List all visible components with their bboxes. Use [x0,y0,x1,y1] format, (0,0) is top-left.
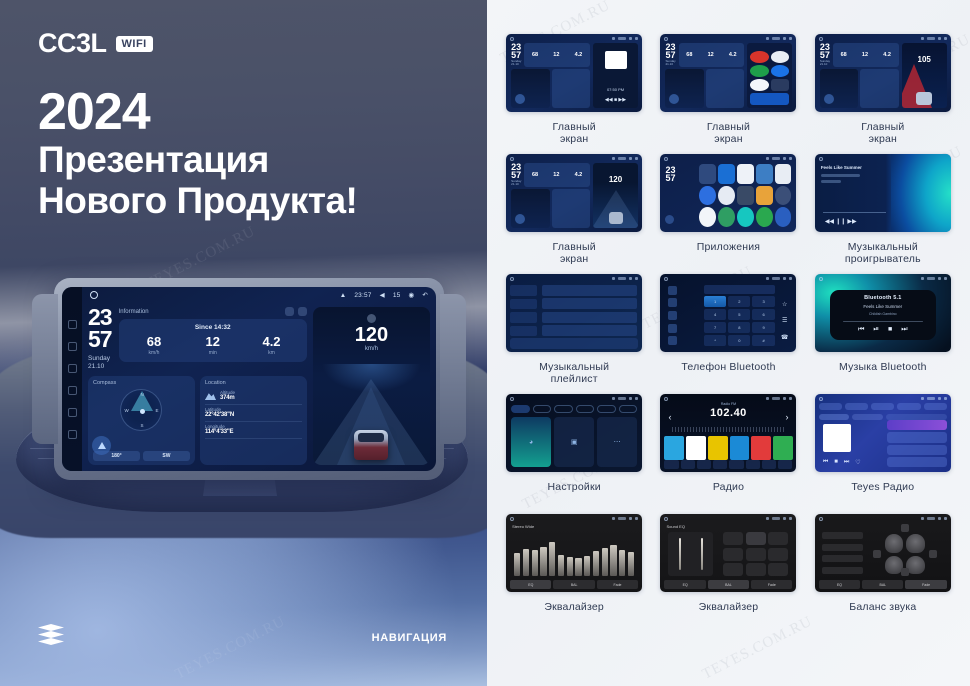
bluetooth-version: Bluetooth 5.1 [864,295,901,301]
volume-icon[interactable]: ◀ [380,291,385,299]
information-widget: Information Since 14:32 68 [119,307,307,371]
hd-icon [367,314,376,323]
information-title: Information [119,309,281,315]
navigation-button[interactable] [92,436,111,455]
thumbnail-speed: 120 [593,175,638,184]
head-unit: ▲ 23:57 ◀ 15 ◉ ↶ 23 57 Sunday [54,278,444,480]
settings-tab [533,405,552,413]
information-header: Information [119,307,307,316]
stat-unit: km [242,350,301,356]
compass-title: Compass [93,380,190,386]
home-icon[interactable] [90,291,98,299]
clock-date: 21.10 [88,363,112,371]
gallery-item[interactable]: 2357Sunday21.10 68124.2 105 Глав [810,34,956,154]
latitude-value: 22°42'38"N [205,412,302,418]
home-icon [510,37,514,41]
rail-icon-radio[interactable] [68,386,77,395]
storage-icon: ▣ [554,417,594,467]
mountain-icon [205,391,216,400]
home-icon [664,517,668,521]
head-unit-screen[interactable]: ▲ 23:57 ◀ 15 ◉ ↶ 23 57 Sunday [62,287,436,471]
longitude-value: 114°4'33"E [205,429,302,435]
stat-unit: min [183,350,242,356]
call-icon: ☎ [781,334,788,341]
radio-band: Radio FM [660,402,796,406]
gallery-item[interactable]: Stereo Wide EQ BAL Fade Эквалайзер [501,514,647,634]
phone-number-field[interactable] [704,285,775,294]
compass-south: S [140,423,143,428]
thumbnail-equalizer-presets[interactable]: Sound EQ EQ BAL Fade [660,514,796,592]
gallery-caption: Музыкальныйплейлист [539,361,609,385]
thumbnail-sound-balance[interactable]: EQ BAL Fade [815,514,951,592]
gallery-panel: TEYES.COM.RU TEYES.COM.RU TEYES.COM.RU T… [487,0,970,686]
play-pause-icon: ⏯ [873,326,879,334]
stat-item: 68 km/h [125,335,184,356]
home-icon [664,397,668,401]
settings-tab [576,405,595,413]
thumbnail-apps[interactable]: 2357 [660,154,796,232]
gallery-caption: Настройки [548,481,601,493]
gallery-caption: Телефон Bluetooth [681,361,775,373]
volume-level: 15 [393,292,401,299]
gallery-caption: Главныйэкран [553,241,596,265]
stat-value: 68 [125,335,184,348]
headline-line-1: Презентация [38,139,357,180]
radio-frequency: 102.40 [660,407,796,419]
gallery-caption: Радио [713,481,744,493]
clock-weekday: Sunday [88,355,112,363]
thumbnail-bluetooth-phone[interactable]: 123 456 789 *0# ☆☰☎ [660,274,796,352]
expand-icon[interactable] [298,307,307,316]
settings-tab [511,405,530,413]
home-icon [510,277,514,281]
rail-icon-apps[interactable] [68,342,77,351]
balance-up-icon[interactable] [901,524,909,532]
home-icon [664,277,668,281]
phone-actions[interactable]: ☆☰☎ [776,296,794,346]
stat-item: 4.2 km [242,335,301,356]
gallery-caption: Музыка Bluetooth [839,361,927,373]
equalizer-title: Sound EQ [666,524,684,529]
rail-icon-back[interactable] [68,430,77,439]
refresh-icon[interactable] [285,307,294,316]
gallery-item[interactable]: Sound EQ EQ BAL Fade Эквалайзер [655,514,801,634]
gallery-caption: Главныйэкран [861,121,904,145]
navigation-label: НАВИГАЦИЯ [372,632,447,644]
album-art [823,424,851,452]
gallery-item[interactable]: EQ BAL Fade Баланс звука [810,514,956,634]
stat-unit: km/h [125,350,184,356]
thumbnail-speed: 105 [902,55,947,64]
app-grid[interactable] [699,164,792,227]
brand-logo-text: CC3L [38,30,107,57]
gallery-item[interactable]: 2357 Приложения [655,154,801,274]
gallery-item[interactable]: Bluetooth 5.1 Feels Like Summer Childish… [810,274,956,394]
thumbnail-settings[interactable]: ◕▣⋯ [506,394,642,472]
bluetooth-artist: Childish Gambino [869,312,897,316]
gallery-item[interactable]: Музыкальныйплейлист [501,274,647,394]
more-icon: ⋯ [597,417,637,467]
compass-and-location: Compass N S W E 180° [88,376,307,465]
thumbnail-radio[interactable]: Radio FM 102.40 ‹ › [660,394,796,472]
rail-icon-music[interactable] [68,364,77,373]
equalizer-preset-label: Stereo Wide [512,524,534,529]
camera-icon[interactable]: ◉ [408,291,414,299]
gallery-item[interactable]: 2357Sunday21.10 68124.2 07:50 PM ◀◀ ■ ▶▶ [501,34,647,154]
side-rail[interactable] [62,287,82,471]
back-arrow-icon[interactable]: ↶ [422,291,428,299]
presentation-slide: TEYES.COM.RU TEYESCOM.RU TEYES.COM.RU CC… [0,0,970,686]
hero-panel: TEYES.COM.RU TEYESCOM.RU TEYES.COM.RU CC… [0,0,487,686]
prev-station-icon[interactable]: ‹ [668,412,671,422]
phone-sidebar[interactable] [663,284,681,347]
compass-direction: SW [143,451,190,461]
stat-value: 4.2 [242,335,301,348]
compass-dial: N S W E [120,389,162,431]
settings-tabs[interactable] [511,405,637,413]
information-since: Since 14:32 [125,324,301,331]
information-stats: 68 km/h 12 min 4.2 [125,335,301,356]
thumbnail-teyes-radio[interactable]: ⏮■ ⏭♡ [815,394,951,472]
home-icon [510,397,514,401]
equalizer-dock[interactable]: EQ BAL Fade [510,580,638,589]
watermark: TEYES.COM.RU [173,613,289,683]
thumbnail-home-apps[interactable]: 2357Sunday21.10 68124.2 [660,34,796,112]
radio-dock[interactable] [664,460,792,469]
playlist-sidebar[interactable] [510,285,537,336]
radio-presets[interactable] [664,436,792,460]
thumbnail-home-road[interactable]: 2357Sunday21.10 68124.2 105 [815,34,951,112]
gallery-item[interactable]: Radio FM 102.40 ‹ › Радио [655,394,801,514]
clock-widget: 23 57 Sunday 21.10 [88,307,112,371]
information-panel: Since 14:32 68 km/h 12 min [119,319,307,362]
balance-down-icon[interactable] [901,568,909,576]
home-icon [510,517,514,521]
clock-minutes: 57 [88,329,112,351]
gallery-caption: Эквалайзер [699,601,759,613]
stat-value: 12 [183,335,242,348]
thumbnail-home-nav[interactable]: 2357Sunday21.10 68124.2 120 [506,154,642,232]
wifi-badge: WIFI [116,36,153,52]
car-graphic [354,430,388,460]
equalizer-preset-grid[interactable] [723,532,788,576]
location-altitude: Altitude 374m [205,388,302,405]
home-icon [819,397,823,401]
compass-west: W [124,408,128,413]
rail-icon-settings[interactable] [68,408,77,417]
equalizer-sliders[interactable] [514,532,634,576]
status-bar: ▲ 23:57 ◀ 15 ◉ ↶ [82,287,436,303]
home-icon [664,157,668,161]
clock-and-info: 23 57 Sunday 21.10 Information [88,307,307,371]
gallery-caption: Главныйэкран [707,121,750,145]
wifi-icon: ◕ [511,417,551,467]
home-icon [510,157,514,161]
prev-icon: ⏮ [858,326,864,334]
teyes-radio-tabs[interactable] [819,403,947,410]
fan-graphic [891,154,951,232]
home-icon [819,517,823,521]
status-time: 23:57 [354,292,371,299]
compass-north: N [140,392,143,397]
star-icon: ☆ [782,301,787,308]
gallery-item[interactable]: 2357Sunday21.10 68124.2 [655,34,801,154]
layers-icon[interactable] [38,624,64,646]
bluetooth-song: Feels Like Summer [863,304,902,309]
gallery-caption: Главныйэкран [553,121,596,145]
home-screen-body: 23 57 Sunday 21.10 Information [88,307,430,465]
stop-icon: ■ [834,459,838,466]
thumbnail-playlist[interactable] [506,274,642,352]
gallery-caption: Приложения [697,241,760,253]
balance-dock[interactable]: EQ BAL Fade [819,580,947,589]
next-icon: ⏭ [844,459,849,466]
music-controls[interactable]: ◀◀ ❙❙ ▶▶ [825,218,857,225]
playlist-rows[interactable] [542,285,638,336]
next-icon: ⏭ [901,326,907,334]
balance-right-icon[interactable] [929,550,937,558]
location-title: Location [205,380,302,386]
headline-year: 2024 [38,86,357,139]
thumbnail-bluetooth-music[interactable]: Bluetooth 5.1 Feels Like Summer Childish… [815,274,951,352]
balance-options[interactable] [822,530,863,576]
teyes-radio-controls[interactable]: ⏮■ ⏭♡ [823,459,861,466]
playlist-row [542,298,638,309]
drive-speed: 120 [355,325,388,346]
home-icon [819,277,823,281]
altitude-value: 374m [220,395,235,401]
teyes-radio-list[interactable] [887,420,947,467]
thumbnail-equalizer[interactable]: Stereo Wide EQ BAL Fade [506,514,642,592]
playlist-row [542,325,638,336]
settings-tab [597,405,616,413]
compass-east: E [155,408,158,413]
bluetooth-controls[interactable]: ⏮⏯ ■⏭ [858,326,907,334]
headline: 2024 Презентация Нового Продукта! [38,86,357,222]
stop-icon: ■ [888,326,892,334]
compass-center [140,409,145,414]
location-latitude: Latitude 22°42'38"N [205,405,302,422]
drive-speed-unit: km/h [365,346,378,352]
progress-bar[interactable] [843,321,924,323]
next-station-icon[interactable]: › [785,412,788,422]
balance-left-icon[interactable] [873,550,881,558]
playlist-row [542,312,638,323]
playlist-now-playing-bar[interactable] [510,338,638,349]
gallery-caption: Баланс звука [849,601,916,613]
heart-icon: ♡ [855,459,860,466]
music-track-title: Feels Like Summer [821,165,888,170]
equalizer-faders[interactable] [668,532,713,576]
head-unit-wing-left [32,294,58,444]
dial-pad[interactable]: 123 456 789 *0# [704,296,775,346]
road-graphic [313,364,430,465]
settings-cards[interactable]: ◕▣⋯ [511,417,637,467]
radio-scale[interactable] [672,427,784,432]
wifi-icon: ▲ [340,292,347,299]
prev-icon: ⏮ [823,459,828,466]
screenshot-grid: 2357Sunday21.10 68124.2 07:50 PM ◀◀ ■ ▶▶ [501,34,956,634]
rail-icon-home[interactable] [68,320,77,329]
gallery-item[interactable]: Feels Like Summer ◀◀ ❙❙ ▶▶ Музыкальныйпр… [810,154,956,274]
gallery-item[interactable]: ⏮■ ⏭♡ Teyes Радио [810,394,956,514]
location-longitude: Longitude 114°4'33"E [205,422,302,439]
gallery-caption: Музыкальныйпроигрыватель [845,241,921,265]
head-unit-wing-right [440,294,466,444]
gallery-caption: Эквалайзер [544,601,604,613]
drive-widget[interactable]: 120 km/h [313,307,430,465]
gallery-item[interactable]: 2357Sunday21.10 68124.2 120 Глав [501,154,647,274]
home-icon [664,37,668,41]
thumbnail-music-player[interactable]: Feels Like Summer ◀◀ ❙❙ ▶▶ [815,154,951,232]
playlist-row [542,285,638,296]
thumbnail-home-media[interactable]: 2357Sunday21.10 68124.2 07:50 PM ◀◀ ■ ▶▶ [506,34,642,112]
stat-item: 12 min [183,335,242,356]
location-widget[interactable]: Location Altitude 374m Latitude [200,376,307,465]
settings-tab [554,405,573,413]
contacts-icon: ☰ [782,317,787,324]
bluetooth-card: Bluetooth 5.1 Feels Like Summer Childish… [830,290,936,340]
brand-logo: CC3L WIFI [38,30,153,57]
home-icon [819,37,823,41]
gallery-item[interactable]: 123 456 789 *0# ☆☰☎ Телефон Bluetooth [655,274,801,394]
gallery-item[interactable]: ◕▣⋯ Настройки [501,394,647,514]
headline-line-2: Нового Продукта! [38,180,357,221]
home-left-column: 23 57 Sunday 21.10 Information [88,307,307,465]
gallery-caption: Teyes Радио [851,481,914,493]
equalizer-dock[interactable]: EQ BAL Fade [664,580,792,589]
settings-tab [619,405,638,413]
